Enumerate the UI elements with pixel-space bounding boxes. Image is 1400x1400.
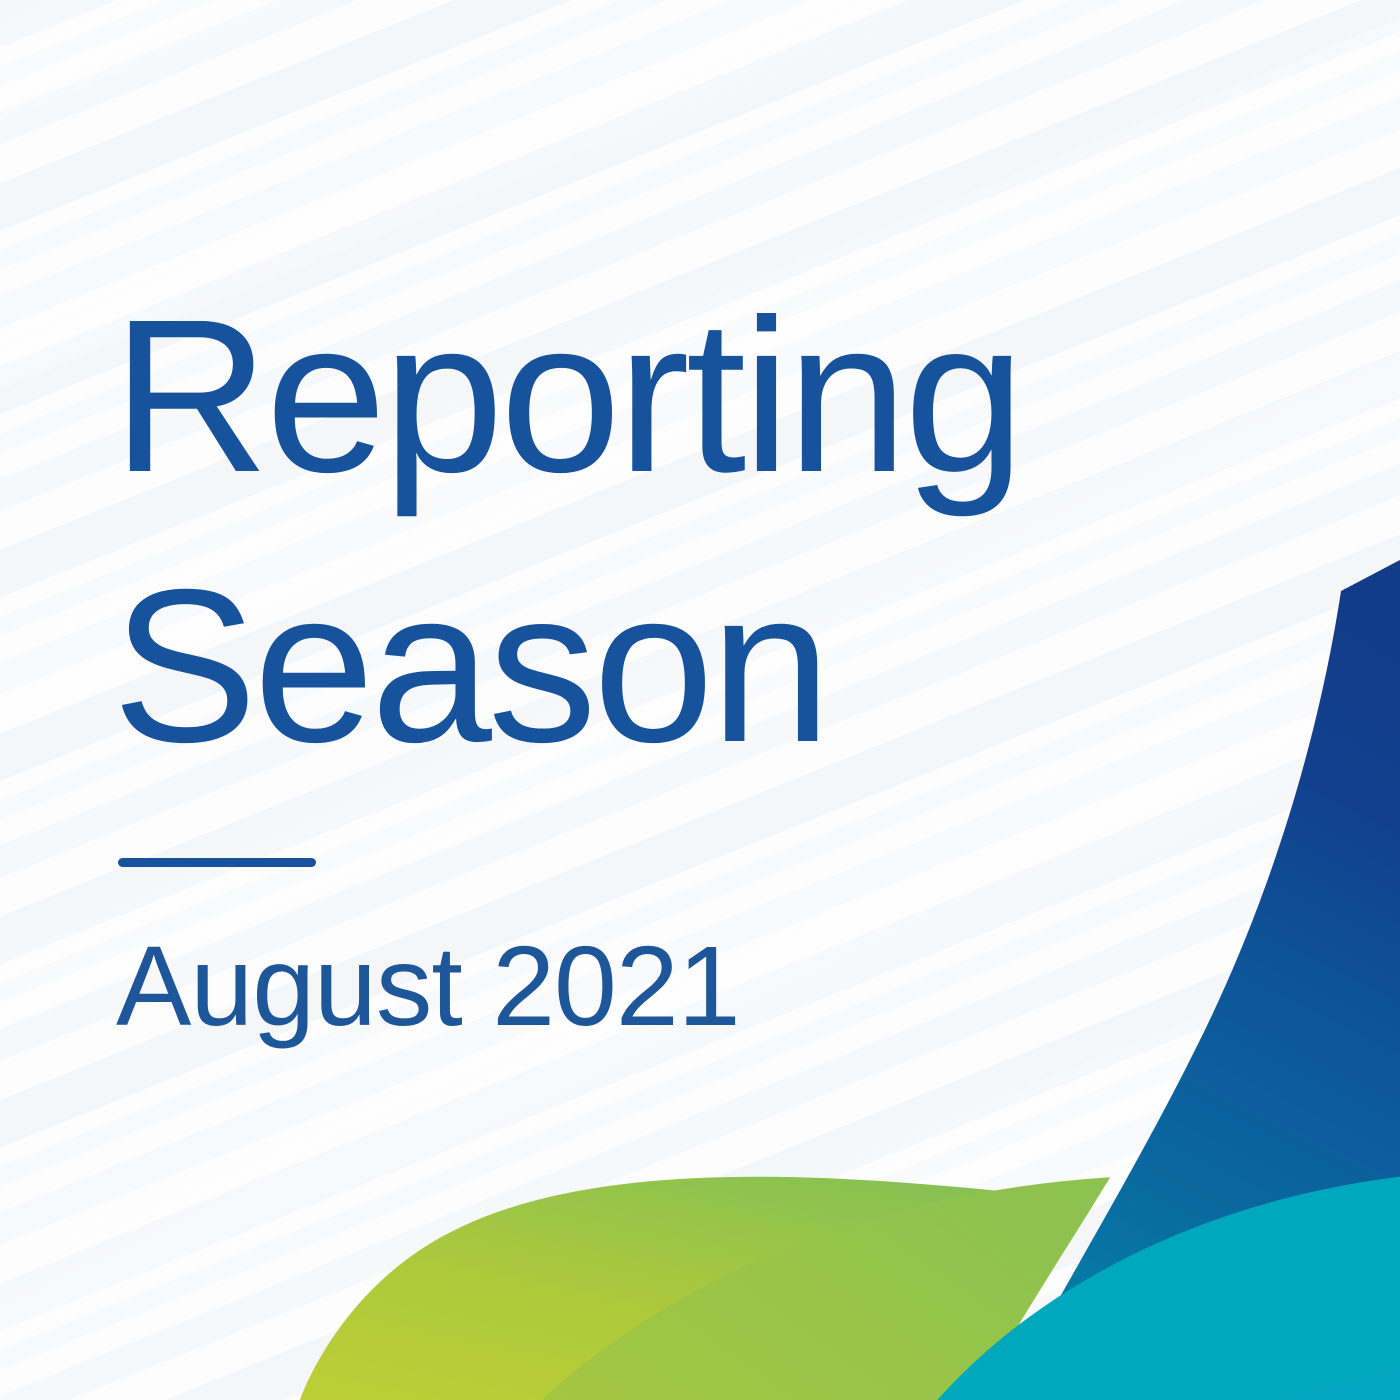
poster-canvas: Reporting Season August 2021 [0, 0, 1400, 1400]
title-divider-rule [118, 858, 316, 867]
text-layer: Reporting Season August 2021 [0, 0, 1400, 1400]
page-title-line-1: Reporting [112, 288, 1021, 506]
page-title-line-2: Season [112, 558, 827, 776]
page-subtitle-date: August 2021 [116, 930, 740, 1043]
